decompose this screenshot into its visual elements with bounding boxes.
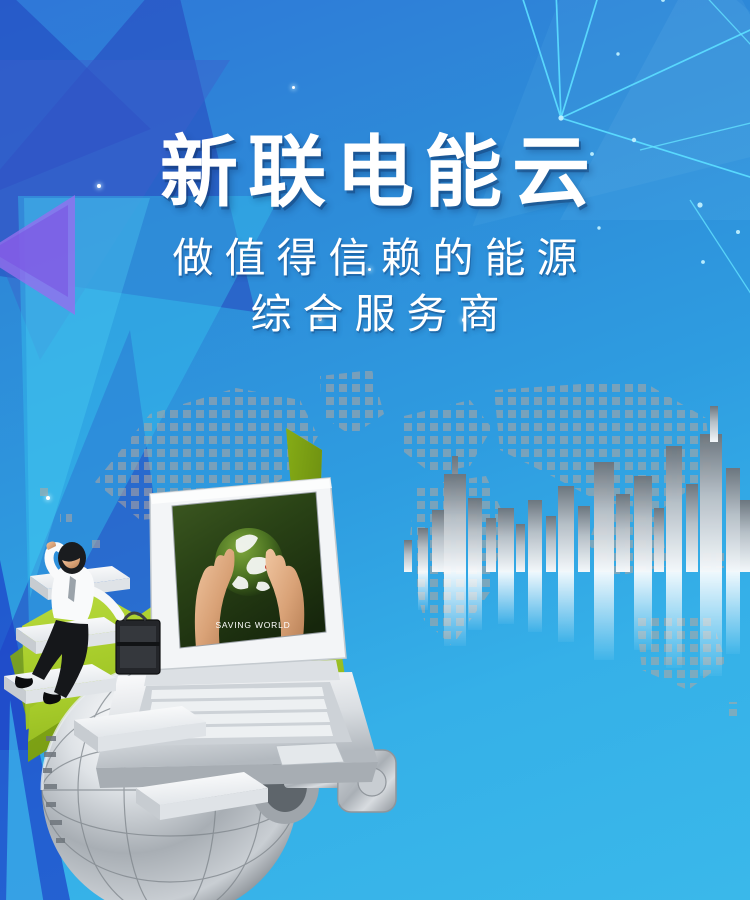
page-title: 新联电能云 — [10, 126, 750, 218]
sparkle-dot — [292, 86, 295, 89]
briefcase — [116, 613, 160, 674]
laptop-screen-image — [168, 488, 334, 656]
city-skyline — [404, 406, 750, 676]
laptop-screen-caption: SAVING WORLD — [215, 620, 290, 630]
page-subtitle: 做值得信赖的能源 综合服务商 — [11, 230, 750, 342]
subtitle-line-2: 综合服务商 — [11, 286, 750, 342]
subtitle-line-1: 做值得信赖的能源 — [173, 235, 589, 281]
title-block: 新联电能云 做值得信赖的能源 综合服务商 — [0, 126, 750, 342]
scene-artwork: SAVING WORLD — [0, 390, 750, 900]
poster-banner: 新联电能云 做值得信赖的能源 综合服务商 — [0, 0, 750, 900]
